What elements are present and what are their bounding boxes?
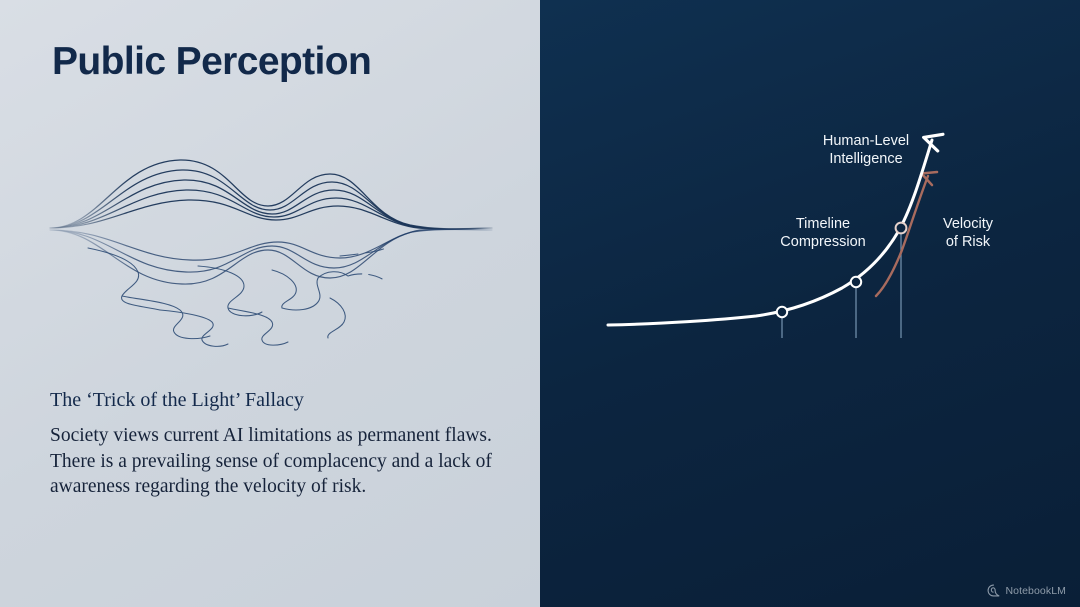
tc-label-line-2: Compression	[780, 234, 865, 250]
chart-annotation-timeline-compression: Timeline Compression	[780, 216, 865, 250]
notebooklm-watermark-label: NotebookLM	[1005, 585, 1066, 597]
page-title-public-perception: Public Perception	[52, 40, 371, 84]
chart-marker-3	[896, 223, 907, 234]
tc-label-line-1: Timeline	[796, 216, 850, 232]
public-perception-text-block: The ‘Trick of the Light’ Fallacy Society…	[50, 388, 500, 500]
chart-marker-2	[851, 277, 861, 287]
hli-label-line-1: Human-Level	[823, 133, 909, 149]
velocity-of-risk-curve	[876, 176, 928, 296]
chart-marker-1	[777, 307, 787, 317]
mirage-reflection-illustration	[30, 150, 510, 350]
chart-annotation-human-level-intelligence: Human-Level Intelligence	[823, 133, 909, 167]
notebooklm-spiral-icon	[987, 584, 1000, 597]
chart-annotation-velocity-of-risk: Velocity of Risk	[943, 216, 994, 250]
vor-label-line-2: of Risk	[946, 234, 991, 250]
public-perception-paragraph: Society views current AI limitations as …	[50, 423, 500, 500]
human-level-intelligence-curve	[608, 140, 932, 325]
public-perception-subhead: The ‘Trick of the Light’ Fallacy	[50, 388, 500, 413]
slide-root: Public Perception	[0, 0, 1080, 607]
vor-label-line-1: Velocity	[943, 216, 994, 232]
notebooklm-watermark: NotebookLM	[987, 584, 1066, 597]
public-perception-panel: Public Perception	[0, 0, 540, 607]
hli-label-line-2: Intelligence	[829, 151, 902, 167]
technical-reality-chart: Human-Level Intelligence Timeline Compre…	[580, 110, 1040, 360]
